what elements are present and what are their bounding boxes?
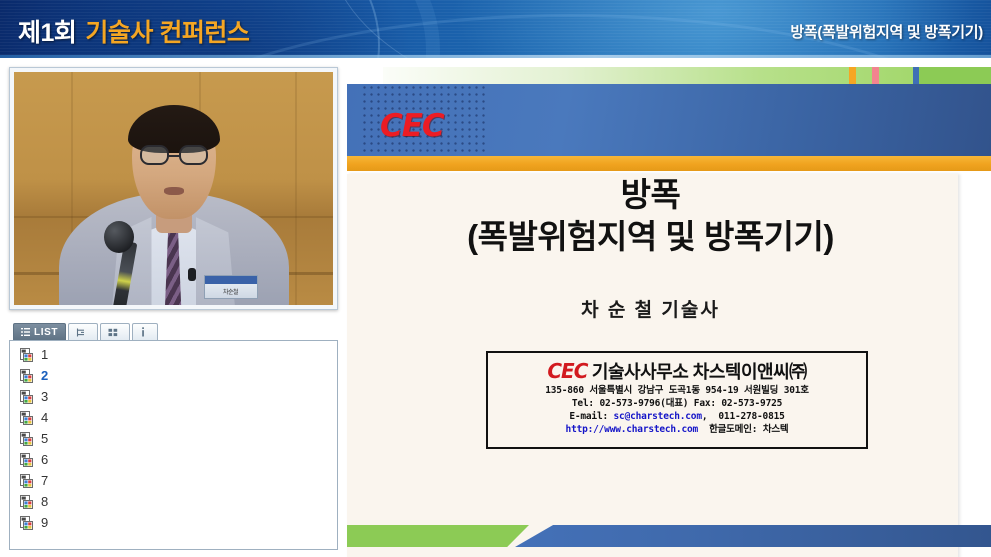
speaker-mouth	[164, 187, 184, 195]
web-spacer	[698, 424, 709, 435]
slide-icon	[20, 369, 33, 383]
list-item[interactable]: 1	[10, 344, 337, 365]
video-stage[interactable]: 차순철	[14, 72, 333, 305]
speaker-glasses	[179, 145, 208, 165]
name-badge-text: 차순철	[205, 287, 257, 296]
list-item[interactable]: 9	[10, 512, 337, 533]
tab-list[interactable]: LIST	[13, 323, 66, 340]
presentation-viewer: 제1회기술사 컨퍼런스 방폭(폭발위험지역 및 방폭기기)	[0, 0, 991, 557]
list-item[interactable]: 8	[10, 491, 337, 512]
page-header: 제1회기술사 컨퍼런스 방폭(폭발위험지역 및 방폭기기)	[0, 0, 991, 58]
video-player-panel[interactable]: 차순철	[9, 67, 338, 310]
list-item-label: 8	[41, 494, 48, 509]
wood-panel-seam	[295, 72, 297, 305]
name-badge: 차순철	[204, 275, 258, 299]
company-line: CEC 기술사사무소 차스텍이앤씨㈜	[488, 359, 866, 384]
slide-icon	[20, 432, 33, 446]
list-icon	[21, 328, 30, 336]
list-item[interactable]: 4	[10, 407, 337, 428]
footer-green-shape	[347, 525, 529, 547]
tab-grid[interactable]	[100, 323, 130, 340]
slide-icon	[20, 411, 33, 425]
slide-title-line1: 방폭	[621, 176, 681, 213]
tab-info[interactable]	[132, 323, 158, 340]
company-web-line: http://www.charstech.com 한글도메인: 차스텍	[488, 423, 866, 436]
conference-title: 제1회기술사 컨퍼런스	[18, 13, 249, 49]
email-separator: ,	[702, 411, 719, 422]
company-email-line: E-mail: sc@charstech.com, 011-278-0815	[488, 410, 866, 423]
slide-gold-bar	[347, 156, 991, 171]
list-item-label: 6	[41, 452, 48, 467]
mobile-number: 011-278-0815	[718, 411, 784, 422]
hangul-domain-value: 차스텍	[763, 424, 789, 435]
slide-title: 방폭 (폭발위험지역 및 방폭기기)	[345, 174, 956, 258]
header-underline	[0, 55, 991, 58]
slide-footer	[347, 525, 991, 547]
hangul-domain-label: 한글도메인:	[709, 424, 757, 435]
name-badge-header	[205, 276, 257, 284]
list-item[interactable]: 7	[10, 470, 337, 491]
list-item-label: 1	[41, 347, 48, 362]
tab-list-label: LIST	[34, 327, 58, 338]
list-item-label: 3	[41, 389, 48, 404]
slide-icon	[20, 453, 33, 467]
company-name: 기술사사무소 차스텍이앤씨㈜	[592, 362, 807, 382]
list-item[interactable]: 6	[10, 449, 337, 470]
slide-list[interactable]: 1 2	[9, 341, 338, 550]
conference-title-accent: 기술사 컨퍼런스	[85, 19, 249, 47]
outline-icon	[76, 328, 86, 337]
speaker-glasses	[140, 145, 169, 165]
slide-banner: CEC	[347, 84, 991, 156]
contact-info-box: CEC 기술사사무소 차스텍이앤씨㈜ 135-860 서울특별시 강남구 도곡1…	[486, 351, 868, 449]
website-url[interactable]: http://www.charstech.com	[566, 424, 698, 435]
lapel-microphone	[188, 268, 196, 281]
slide-icon	[20, 474, 33, 488]
list-item-label: 5	[41, 431, 48, 446]
slide-view[interactable]: CEC 방폭 (폭발위험지역 및 방폭기기) 차 순 철 기술사 CEC 기술사…	[345, 62, 991, 557]
slide-panel-tabs: LIST	[9, 322, 338, 341]
session-title: 방폭(폭발위험지역 및 방폭기기)	[790, 21, 983, 42]
list-item-label: 2	[41, 368, 48, 383]
slide-icon	[20, 495, 33, 509]
slide-icon	[20, 348, 33, 362]
conference-title-main: 제1회	[18, 19, 76, 47]
slide-title-line2: (폭발위험지역 및 방폭기기)	[345, 216, 956, 258]
company-address: 135-860 서울특별시 강남구 도곡1동 954-19 서원빌딩 301호	[488, 384, 866, 397]
speaker-glasses-bridge	[168, 155, 180, 158]
list-item[interactable]: 2	[10, 365, 337, 386]
grid-icon	[108, 328, 118, 337]
slide-list-panel: LIST	[9, 322, 338, 550]
speaker-hair	[128, 105, 220, 153]
company-phone: Tel: 02-573-9796(대표) Fax: 02-573-9725	[488, 397, 866, 410]
email-label: E-mail:	[569, 411, 608, 422]
tab-outline[interactable]	[68, 323, 98, 340]
list-item[interactable]: 5	[10, 428, 337, 449]
list-item-label: 7	[41, 473, 48, 488]
footer-blue-shape	[515, 525, 991, 547]
list-item[interactable]: 3	[10, 386, 337, 407]
microphone-head	[104, 221, 134, 253]
email-address[interactable]: sc@charstech.com	[614, 411, 702, 422]
company-logo-mark: CEC	[547, 359, 587, 383]
info-icon	[140, 327, 146, 337]
slide-icon	[20, 390, 33, 404]
slide-icon	[20, 516, 33, 530]
slide-presenter-name: 차 순 철 기술사	[345, 295, 956, 322]
cec-logo: CEC	[380, 108, 444, 144]
list-item-label: 9	[41, 515, 48, 530]
list-item-label: 4	[41, 410, 48, 425]
